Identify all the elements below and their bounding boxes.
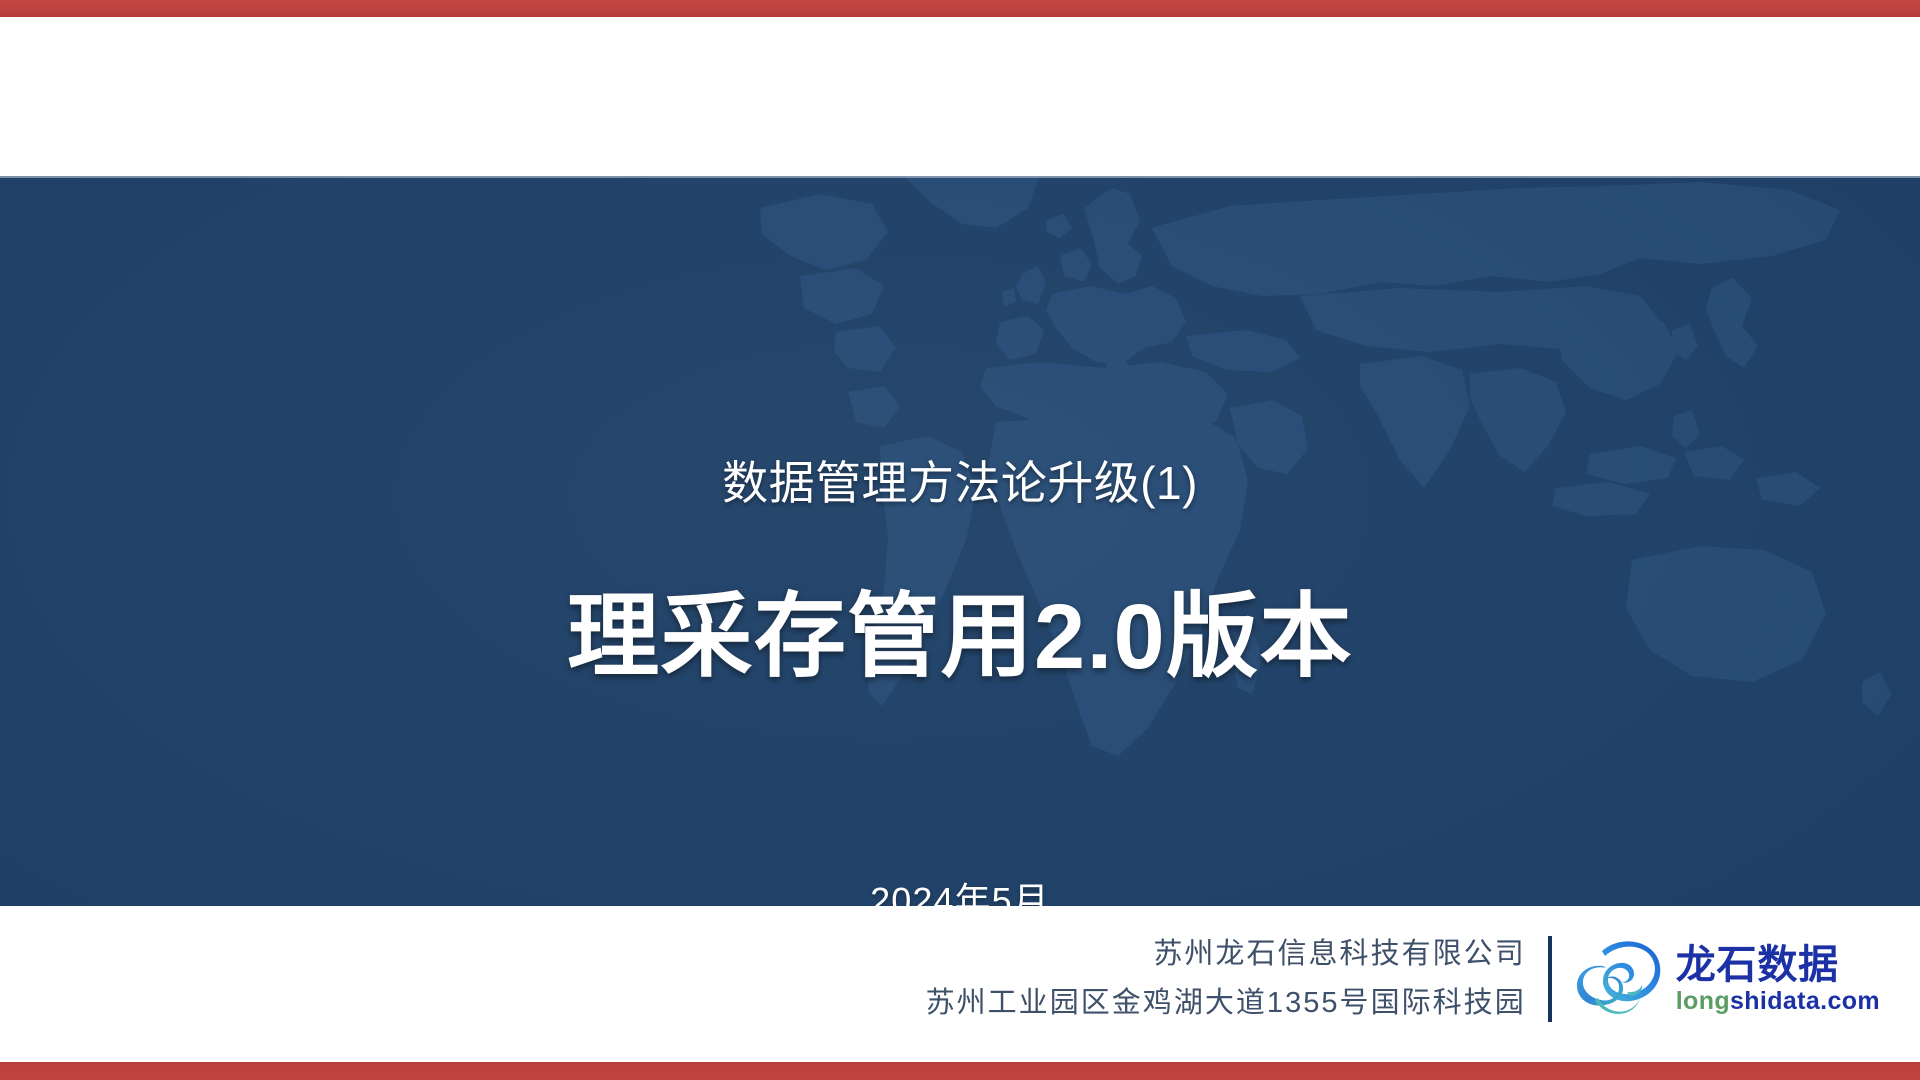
hero-panel: 数据管理方法论升级(1) 理采存管用2.0版本 2024年5月 — [0, 176, 1920, 906]
bottom-accent-bar — [0, 1062, 1920, 1080]
top-accent-bar — [0, 0, 1920, 17]
slide-canvas: 数据管理方法论升级(1) 理采存管用2.0版本 2024年5月 苏州龙石信息科技… — [0, 0, 1920, 1080]
company-logo[interactable]: 龙石数据 longshidata.com — [1552, 938, 1880, 1020]
company-info: 苏州龙石信息科技有限公司 苏州工业园区金鸡湖大道1355号国际科技园 — [926, 930, 1548, 1028]
longshi-swirl-logo-icon — [1572, 938, 1664, 1020]
hero-subtitle: 数据管理方法论升级(1) — [0, 447, 1920, 513]
hero-date: 2024年5月 — [0, 872, 1920, 906]
logo-wordmark: 龙石数据 longshidata.com — [1676, 943, 1880, 1015]
company-address: 苏州工业园区金鸡湖大道1355号国际科技园 — [926, 979, 1526, 1028]
logo-url-prefix: long — [1676, 987, 1730, 1015]
hero-title: 理采存管用2.0版本 — [0, 562, 1920, 695]
footer: 苏州龙石信息科技有限公司 苏州工业园区金鸡湖大道1355号国际科技园 — [0, 906, 1920, 1062]
logo-url: longshidata.com — [1676, 987, 1880, 1015]
company-name: 苏州龙石信息科技有限公司 — [926, 930, 1526, 979]
world-map-background — [0, 176, 1920, 906]
logo-url-suffix: shidata.com — [1730, 987, 1880, 1015]
footer-content: 苏州龙石信息科技有限公司 苏州工业园区金鸡湖大道1355号国际科技园 — [926, 930, 1880, 1028]
logo-name-cn: 龙石数据 — [1676, 943, 1880, 987]
